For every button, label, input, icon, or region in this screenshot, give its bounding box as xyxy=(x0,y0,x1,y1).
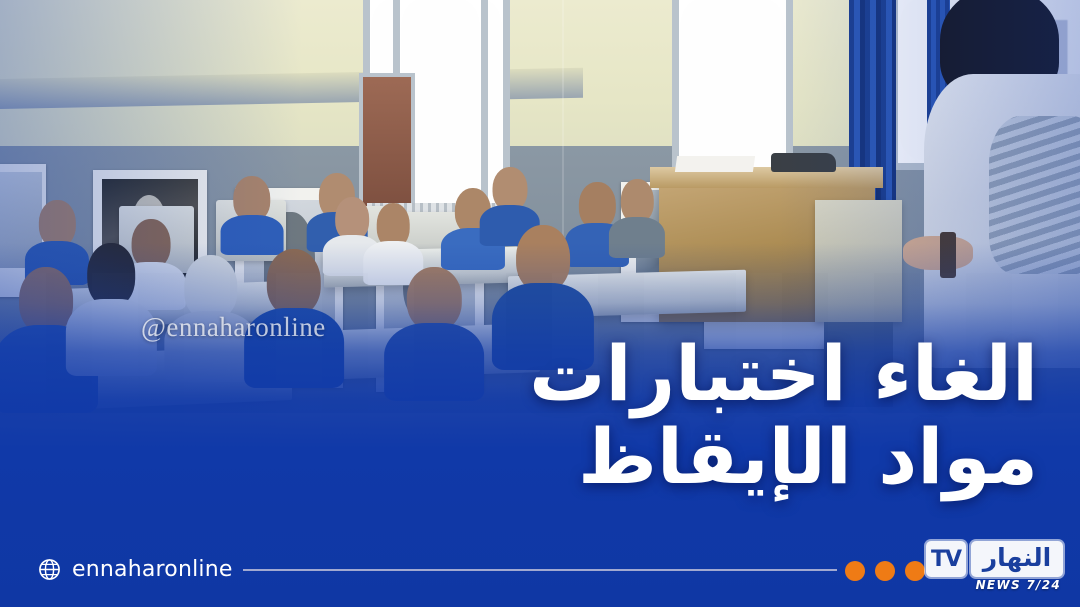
headline-line-2: مواد الإيقاظ xyxy=(178,419,1038,494)
site-handle: ennaharonline xyxy=(38,557,233,582)
headline-line-1: الغاء اختبارات xyxy=(178,336,1038,411)
site-name: ennaharonline xyxy=(72,557,233,582)
footer-dots xyxy=(845,561,925,581)
globe-icon xyxy=(38,558,61,581)
logo-tagline: NEWS 7/24 xyxy=(976,578,1061,592)
logo-tv-badge: TV xyxy=(926,541,966,577)
ennahar-tv-logo: TV النهار NEWS 7/24 xyxy=(926,541,1063,594)
footer-divider xyxy=(243,569,837,571)
logo-arabic-name: النهار xyxy=(971,541,1063,577)
news-card: @ennaharonline الغاء اختبارات مواد الإيق… xyxy=(0,0,1080,607)
dot-icon xyxy=(845,561,865,581)
headline: الغاء اختبارات مواد الإيقاظ xyxy=(178,336,1038,494)
classroom-photo xyxy=(0,0,1080,607)
dot-icon xyxy=(905,561,925,581)
dot-icon xyxy=(875,561,895,581)
blue-gradient-overlay xyxy=(0,0,1080,607)
